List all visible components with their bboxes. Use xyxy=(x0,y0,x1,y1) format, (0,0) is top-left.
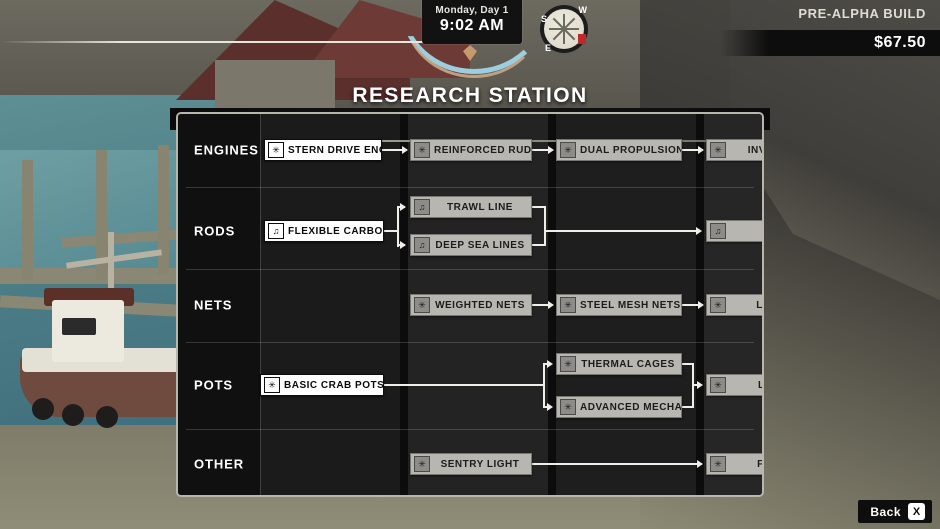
gear-icon: ✳ xyxy=(414,456,430,472)
tech-node-label: FLEXIBLE CARBON FIBRE xyxy=(288,226,383,237)
tech-node-large-nets[interactable]: ✳LARGE xyxy=(706,294,764,316)
tech-node-basic-crab-pots[interactable]: ✳BASIC CRAB POTS xyxy=(260,374,384,396)
tech-node-label: LARGE xyxy=(730,300,764,311)
page-title: RESEARCH STATION xyxy=(0,84,940,108)
compass-label-south: S xyxy=(541,14,547,24)
tech-node-label: STEEL MESH NETS xyxy=(580,300,681,311)
tech-node-label: SENTRY LIGHT xyxy=(434,459,531,470)
compass-widget: S W E xyxy=(540,5,588,53)
tech-node-thermal-cages[interactable]: ✳THERMAL CAGES xyxy=(556,353,682,375)
tech-node-steel-mesh-nets[interactable]: ✳STEEL MESH NETS xyxy=(556,294,682,316)
tech-node-list: ✳STERN DRIVE ENGINE✳REINFORCED RUDDER✳DU… xyxy=(178,114,762,495)
boat-window xyxy=(62,318,96,335)
gear-icon: ✳ xyxy=(560,297,576,313)
gear-icon: ✳ xyxy=(710,142,726,158)
tech-node-live-tank[interactable]: ✳LIVE T xyxy=(706,374,764,396)
rod-icon: ♫ xyxy=(414,237,430,253)
tech-node-label: DUAL PROPULSION xyxy=(580,145,681,156)
boat-fender-3 xyxy=(96,406,118,428)
boat-fender-1 xyxy=(32,398,54,420)
gear-icon: ✳ xyxy=(710,377,726,393)
tech-node-label: STERN DRIVE ENGINE xyxy=(288,145,381,156)
tech-node-dual-propulsion[interactable]: ✳DUAL PROPULSION xyxy=(556,139,682,161)
clock-widget: Monday, Day 1 9:02 AM xyxy=(422,0,522,44)
rod-icon: ♫ xyxy=(414,199,430,215)
tech-node-weighted-nets[interactable]: ✳WEIGHTED NETS xyxy=(410,294,532,316)
money-bar: $67.50 xyxy=(720,30,940,56)
build-tag: PRE-ALPHA BUILD xyxy=(798,6,926,21)
tech-node-flare[interactable]: ✳FLARE xyxy=(706,453,764,475)
tech-node-label: BASIC CRAB POTS xyxy=(284,380,383,391)
dock-pole-1 xyxy=(22,160,33,280)
tech-node-label: INVERTER xyxy=(730,145,764,156)
gear-icon: ✳ xyxy=(560,356,576,372)
compass-label-east: E xyxy=(545,43,551,53)
day-label: Monday, Day 1 xyxy=(422,0,522,16)
gear-icon: ✳ xyxy=(710,456,726,472)
tech-node-stern-drive-engine[interactable]: ✳STERN DRIVE ENGINE xyxy=(264,139,382,161)
tech-node-label: DEEP SEA LINES xyxy=(434,240,531,251)
tech-node-trawl-line[interactable]: ♫TRAWL LINE xyxy=(410,196,532,218)
gear-icon: ✳ xyxy=(414,297,430,313)
tech-node-sentry-light[interactable]: ✳SENTRY LIGHT xyxy=(410,453,532,475)
tech-node-label: TRA xyxy=(730,226,764,237)
time-label: 9:02 AM xyxy=(422,16,522,36)
gear-icon: ✳ xyxy=(710,297,726,313)
tech-node-label: TRAWL LINE xyxy=(434,202,531,213)
tech-node-label: THERMAL CAGES xyxy=(580,359,681,370)
tech-node-label: LIVE T xyxy=(730,380,764,391)
tech-node-label: FLARE xyxy=(730,459,764,470)
research-panel: ENGINESRODSNETSPOTSOTHER xyxy=(176,112,764,497)
compass-needle-icon xyxy=(578,34,586,44)
gear-icon: ✳ xyxy=(560,142,576,158)
back-button-label: Back xyxy=(870,505,901,519)
tech-node-flexible-carbon-fibre[interactable]: ♫FLEXIBLE CARBON FIBRE xyxy=(264,220,384,242)
gear-icon: ✳ xyxy=(414,142,430,158)
horizon-line xyxy=(0,41,432,43)
tech-node-deep-sea-lines[interactable]: ♫DEEP SEA LINES xyxy=(410,234,532,256)
tech-node-label: REINFORCED RUDDER xyxy=(434,145,531,156)
gear-icon: ✳ xyxy=(268,142,284,158)
rod-icon: ♫ xyxy=(710,223,726,239)
tech-node-label: WEIGHTED NETS xyxy=(434,300,531,311)
game-screen: Monday, Day 1 9:02 AM S W E PRE-ALPHA BU… xyxy=(0,0,940,529)
tech-node-trawl-advanced[interactable]: ♫TRA xyxy=(706,220,764,242)
tech-node-inverter[interactable]: ✳INVERTER xyxy=(706,139,764,161)
rod-icon: ♫ xyxy=(268,223,284,239)
money-amount: $67.50 xyxy=(874,34,926,52)
boat-fender-2 xyxy=(62,404,84,426)
gear-icon: ✳ xyxy=(560,399,576,415)
tech-node-label: ADVANCED MECHANISMS xyxy=(580,402,681,413)
tech-node-reinforced-rudder[interactable]: ✳REINFORCED RUDDER xyxy=(410,139,532,161)
gear-icon: ✳ xyxy=(264,377,280,393)
tech-node-advanced-mechanisms[interactable]: ✳ADVANCED MECHANISMS xyxy=(556,396,682,418)
back-button[interactable]: Back X xyxy=(858,500,932,523)
back-key-icon: X xyxy=(908,503,925,520)
compass-label-west: W xyxy=(579,5,588,15)
